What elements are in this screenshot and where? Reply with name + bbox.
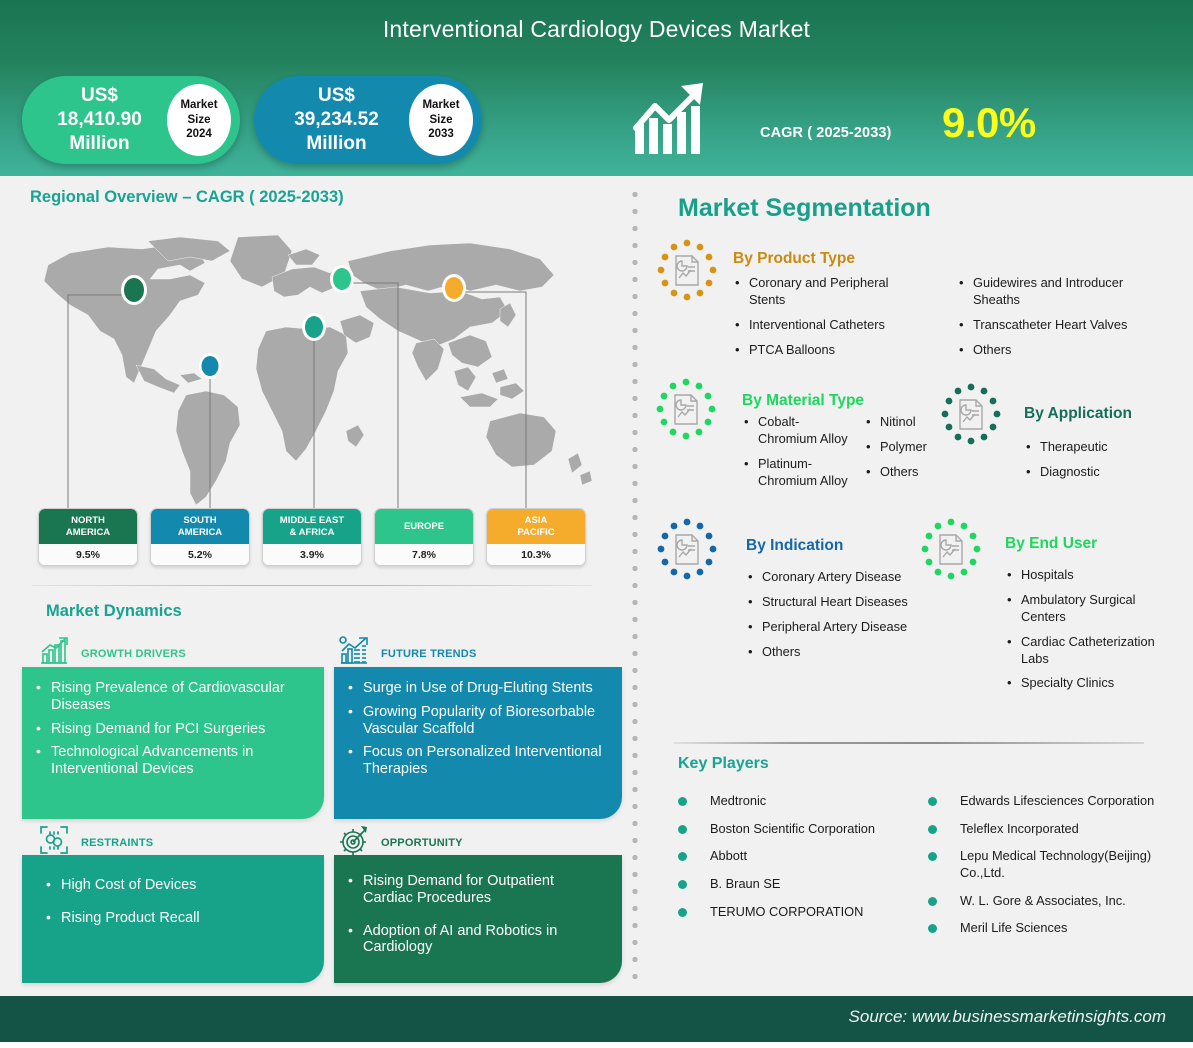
key-players-column-1: Medtronic Boston Scientific Corporation … <box>678 793 928 931</box>
region-card-list: NORTH AMERICA 9.5% SOUTH AMERICA 5.2% MI… <box>38 508 622 566</box>
market-size-2024-badge: Market Size 2024 <box>167 84 231 156</box>
market-size-2033-pill: US$ 39,234.52 Million Market Size 2033 <box>254 76 482 164</box>
header-banner: Interventional Cardiology Devices Market… <box>0 0 1193 176</box>
segment-column-1: Hospitals Ambulatory Surgical Centers Ca… <box>1005 567 1165 692</box>
badge-line1: Market <box>180 98 217 112</box>
segment-by-product-type: By Product Type Coronary and Peripheral … <box>733 250 1147 367</box>
list-item: Diagnostic <box>1024 464 1184 481</box>
list-item: Boston Scientific Corporation <box>678 821 928 838</box>
growth-chart-arrow-icon <box>633 80 717 156</box>
opportunity-box: Rising Demand for Outpatient Cardiac Pro… <box>334 855 622 983</box>
region-name-line1: SOUTH <box>183 515 216 526</box>
market-size-2024-value: US$ 18,410.90 Million <box>22 84 167 157</box>
list-item: Cobalt-Chromium Alloy <box>742 414 854 448</box>
segment-heading: By Product Type <box>733 250 1147 268</box>
list-item: PTCA Balloons <box>733 342 925 359</box>
market-size-2033-value: US$ 39,234.52 Million <box>254 84 409 157</box>
list-item: Rising Product Recall <box>46 910 308 927</box>
cagr-label: CAGR ( 2025-2033) <box>760 125 891 141</box>
list-item: Guidewires and Introducer Sheaths <box>957 275 1147 309</box>
region-name-line1: ASIA <box>525 515 548 526</box>
footer-bar: Source: www.businessmarketinsights.com <box>0 996 1193 1042</box>
list-item: High Cost of Devices <box>46 877 308 894</box>
source-text: Source: www.businessmarketinsights.com <box>849 1007 1166 1027</box>
segment-column-1: Coronary Artery Disease Structural Heart… <box>746 569 946 661</box>
list-item: Adoption of AI and Robotics in Cardiolog… <box>348 923 606 957</box>
trend-forecast-icon <box>338 636 370 671</box>
segment-column-1: Cobalt-Chromium Alloy Platinum-Chromium … <box>742 414 854 498</box>
infographic-page: Interventional Cardiology Devices Market… <box>0 0 1193 1048</box>
list-item: Peripheral Artery Disease <box>746 619 946 636</box>
growth-drivers-label: GROWTH DRIVERS <box>81 648 186 660</box>
region-cagr-value: 3.9% <box>263 544 361 565</box>
segment-by-end-user: By End User Hospitals Ambulatory Surgica… <box>1005 535 1165 700</box>
document-chart-icon-material-type <box>655 378 717 440</box>
segment-by-application: By Application Therapeutic Diagnostic <box>1024 405 1184 489</box>
badge-line3: 2024 <box>186 127 212 141</box>
region-name-line1: NORTH <box>71 515 105 526</box>
region-card-south-america[interactable]: SOUTH AMERICA 5.2% <box>150 508 250 566</box>
list-item: Coronary and Peripheral Stents <box>733 275 925 309</box>
list-item: Teleflex Incorporated <box>928 821 1160 838</box>
region-name-line2: AMERICA <box>66 527 110 538</box>
opportunity-list: Rising Demand for Outpatient Cardiac Pro… <box>348 873 606 956</box>
future-trends-label: FUTURE TRENDS <box>381 648 477 660</box>
list-item: Technological Advancements in Interventi… <box>36 744 308 778</box>
list-item: Coronary Artery Disease <box>746 569 946 586</box>
list-item: Abbott <box>678 848 928 865</box>
document-chart-icon-end-user <box>920 518 982 580</box>
currency-2024: US$ <box>81 85 118 106</box>
region-name: SOUTH AMERICA <box>151 509 249 544</box>
list-item: Cardiac Catheterization Labs <box>1005 634 1165 668</box>
list-item: Edwards Lifesciences Corporation <box>928 793 1160 810</box>
cagr-value: 9.0% <box>942 99 1036 147</box>
future-trends-box: Surge in Use of Drug-Eluting Stents Grow… <box>334 667 622 819</box>
segment-heading: By End User <box>1005 535 1165 553</box>
future-trends-list: Surge in Use of Drug-Eluting Stents Grow… <box>348 680 606 778</box>
value-2033: 39,234.52 <box>294 109 379 130</box>
regional-overview-title: Regional Overview – CAGR ( 2025-2033) <box>30 188 344 207</box>
growth-bar-chart-icon <box>38 636 70 671</box>
segment-column-2: Guidewires and Introducer Sheaths Transc… <box>957 275 1147 367</box>
document-chart-icon-application <box>940 383 1002 445</box>
unit-2033: Million <box>306 133 366 154</box>
list-item: Transcatheter Heart Valves <box>957 317 1147 334</box>
list-item: Lepu Medical Technology(Beijing) Co.,Ltd… <box>928 848 1160 881</box>
region-name: MIDDLE EAST & AFRICA <box>263 509 361 544</box>
section-divider <box>32 585 592 586</box>
list-item: W. L. Gore & Associates, Inc. <box>928 893 1160 910</box>
growth-drivers-box: Rising Prevalence of Cardiovascular Dise… <box>22 667 324 819</box>
badge-line3: 2033 <box>428 127 454 141</box>
document-chart-icon-indication <box>656 518 718 580</box>
market-size-2024-pill: US$ 18,410.90 Million Market Size 2024 <box>22 76 240 164</box>
region-name-line1: MIDDLE EAST <box>280 515 344 526</box>
vertical-dotted-divider <box>632 186 638 986</box>
value-2024: 18,410.90 <box>57 109 142 130</box>
segment-column-1: Therapeutic Diagnostic <box>1024 439 1184 481</box>
document-chart-icon-product-type <box>656 239 718 301</box>
list-item: Rising Demand for PCI Surgeries <box>36 721 308 738</box>
key-players-divider <box>674 742 1144 744</box>
region-name-line1: EUROPE <box>404 521 444 532</box>
region-card-north-america[interactable]: NORTH AMERICA 9.5% <box>38 508 138 566</box>
list-item: B. Braun SE <box>678 876 928 893</box>
list-item: Others <box>746 644 946 661</box>
region-cagr-value: 9.5% <box>39 544 137 565</box>
segment-by-material-type: By Material Type Cobalt-Chromium Alloy P… <box>742 392 954 498</box>
list-item: Meril Life Sciences <box>928 920 1160 937</box>
segment-heading: By Material Type <box>742 392 954 410</box>
region-card-asia-pacific[interactable]: ASIA PACIFIC 10.3% <box>486 508 586 566</box>
unit-2024: Million <box>69 133 129 154</box>
list-item: Interventional Catheters <box>733 317 925 334</box>
market-dynamics-title: Market Dynamics <box>46 602 182 621</box>
list-item: Rising Prevalence of Cardiovascular Dise… <box>36 680 308 714</box>
list-item: Platinum-Chromium Alloy <box>742 456 854 490</box>
list-item: Structural Heart Diseases <box>746 594 946 611</box>
segment-by-indication: By Indication Coronary Artery Disease St… <box>746 537 946 669</box>
list-item: Rising Demand for Outpatient Cardiac Pro… <box>348 873 606 907</box>
opportunity-label: OPPORTUNITY <box>381 837 463 849</box>
list-item: Surge in Use of Drug-Eluting Stents <box>348 680 606 697</box>
list-item: Therapeutic <box>1024 439 1184 456</box>
region-name-line2: & AFRICA <box>289 527 334 538</box>
segment-heading: By Application <box>1024 405 1184 423</box>
future-trends-header: FUTURE TRENDS <box>338 636 477 671</box>
restraints-box: High Cost of Devices Rising Product Reca… <box>22 855 324 983</box>
region-name-line2: PACIFIC <box>517 527 554 538</box>
list-item: Hospitals <box>1005 567 1165 584</box>
segment-heading: By Indication <box>746 537 946 555</box>
region-name-line2: AMERICA <box>178 527 222 538</box>
list-item: Specialty Clinics <box>1005 675 1165 692</box>
badge-line2: Size <box>187 113 210 127</box>
badge-line2: Size <box>429 113 452 127</box>
growth-drivers-header: GROWTH DRIVERS <box>38 636 186 671</box>
region-card-europe[interactable]: EUROPE 7.8% <box>374 508 474 566</box>
market-size-2033-badge: Market Size 2033 <box>409 84 473 156</box>
list-item: Focus on Personalized Interventional The… <box>348 744 606 778</box>
list-item: Medtronic <box>678 793 928 810</box>
region-cagr-value: 7.8% <box>375 544 473 565</box>
region-name: EUROPE <box>375 509 473 544</box>
list-item: TERUMO CORPORATION <box>678 904 928 921</box>
list-item: Others <box>957 342 1147 359</box>
region-name: ASIA PACIFIC <box>487 509 585 544</box>
region-name: NORTH AMERICA <box>39 509 137 544</box>
region-card-middle-east-africa[interactable]: MIDDLE EAST & AFRICA 3.9% <box>262 508 362 566</box>
badge-line1: Market <box>422 98 459 112</box>
restraints-list: High Cost of Devices Rising Product Reca… <box>46 877 308 927</box>
restraints-label: RESTRAINTS <box>81 837 153 849</box>
segment-column-1: Coronary and Peripheral Stents Intervent… <box>733 275 925 367</box>
currency-2033: US$ <box>318 85 355 106</box>
list-item: Ambulatory Surgical Centers <box>1005 592 1165 626</box>
key-players-column-2: Edwards Lifesciences Corporation Telefle… <box>928 793 1160 948</box>
page-title: Interventional Cardiology Devices Market <box>0 16 1193 43</box>
growth-drivers-list: Rising Prevalence of Cardiovascular Dise… <box>36 680 308 778</box>
region-cagr-value: 10.3% <box>487 544 585 565</box>
world-map <box>30 235 610 510</box>
list-item: Growing Popularity of Bioresorbable Vasc… <box>348 704 606 738</box>
key-players-title: Key Players <box>678 755 769 773</box>
market-segmentation-title: Market Segmentation <box>678 194 931 223</box>
list-item: Others <box>864 464 954 481</box>
region-cagr-value: 5.2% <box>151 544 249 565</box>
